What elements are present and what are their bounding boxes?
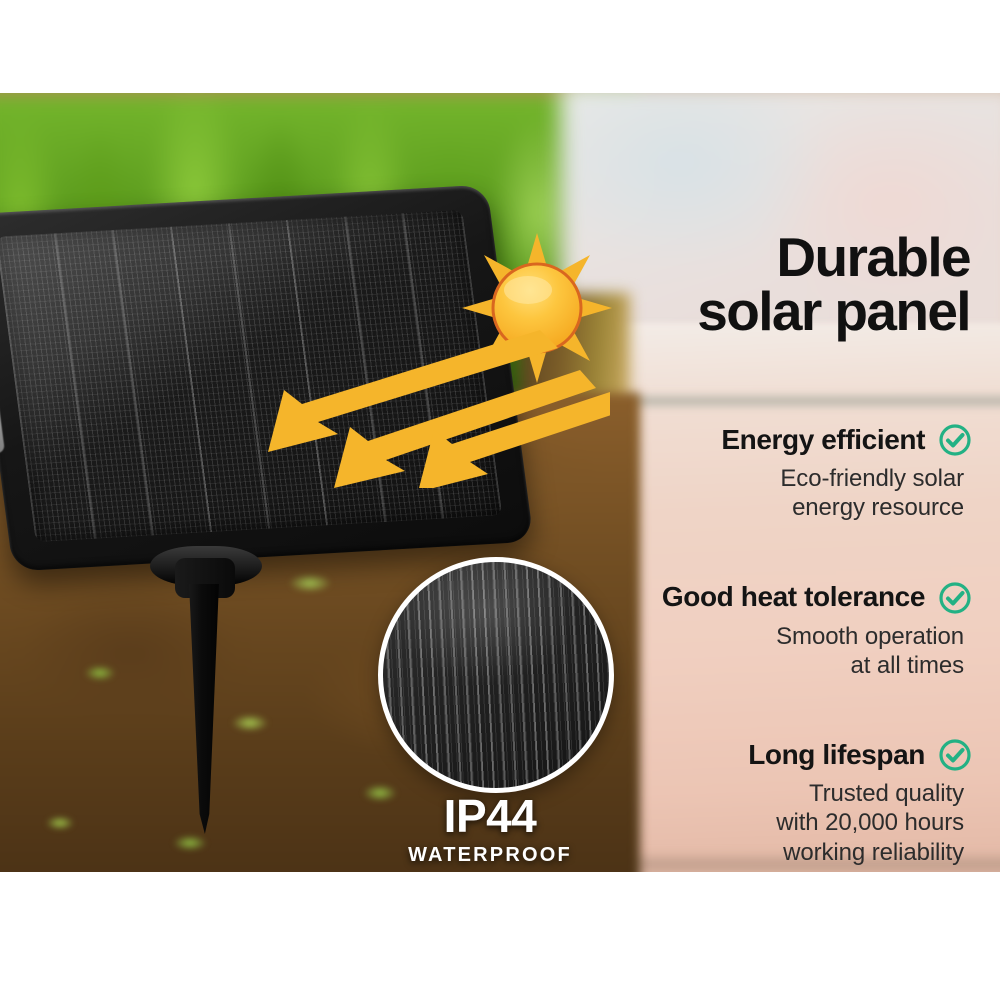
magnifier-gloss: [383, 562, 609, 788]
feature-description-line: working reliability: [600, 838, 964, 867]
sunlight-arrows-icon: [250, 318, 610, 488]
headline-line-2: solar panel: [560, 285, 970, 339]
feature-description: Smooth operation at all times: [600, 622, 972, 681]
page-title: Durable solar panel: [560, 231, 970, 339]
feature-description-line: Trusted quality: [600, 779, 964, 808]
feature-item-good-heat-tolerance: Good heat tolerance Smooth operation at …: [600, 581, 972, 681]
feature-title: Long lifespan: [748, 740, 925, 771]
feature-item-long-lifespan: Long lifespan Trusted quality with 20,00…: [600, 738, 972, 867]
check-circle-icon: [938, 581, 972, 615]
feature-heading-row: Good heat tolerance: [600, 581, 972, 615]
sun-highlight: [504, 276, 552, 304]
product-feature-image: IP44 WATERPROOF Durable solar panel Ener…: [0, 0, 1000, 1000]
ip-rating-text: IP44: [360, 793, 620, 839]
feature-description: Eco-friendly solar energy resource: [600, 464, 972, 523]
feature-heading-row: Long lifespan: [600, 738, 972, 772]
feature-description-line: at all times: [600, 651, 964, 680]
feature-title: Good heat tolerance: [662, 582, 925, 613]
headline-line-1: Durable: [776, 226, 970, 288]
check-circle-icon: [938, 423, 972, 457]
check-circle-icon: [938, 738, 972, 772]
feature-description-line: Eco-friendly solar: [600, 464, 964, 493]
feature-description-line: Smooth operation: [600, 622, 964, 651]
product-photo-background: IP44 WATERPROOF Durable solar panel Ener…: [0, 93, 1000, 872]
waterproof-label: WATERPROOF: [360, 844, 620, 867]
feature-description: Trusted quality with 20,000 hours workin…: [600, 779, 972, 867]
feature-title: Energy efficient: [721, 425, 925, 456]
magnifier-circle-icon: [378, 557, 614, 793]
feature-description-line: energy resource: [600, 493, 964, 522]
feature-list: Energy efficient Eco-friendly solar ener…: [600, 423, 972, 872]
feature-item-energy-efficient: Energy efficient Eco-friendly solar ener…: [600, 423, 972, 523]
ip44-waterproof-badge: IP44 WATERPROOF: [360, 793, 620, 867]
feature-heading-row: Energy efficient: [600, 423, 972, 457]
feature-description-line: with 20,000 hours: [600, 808, 964, 837]
